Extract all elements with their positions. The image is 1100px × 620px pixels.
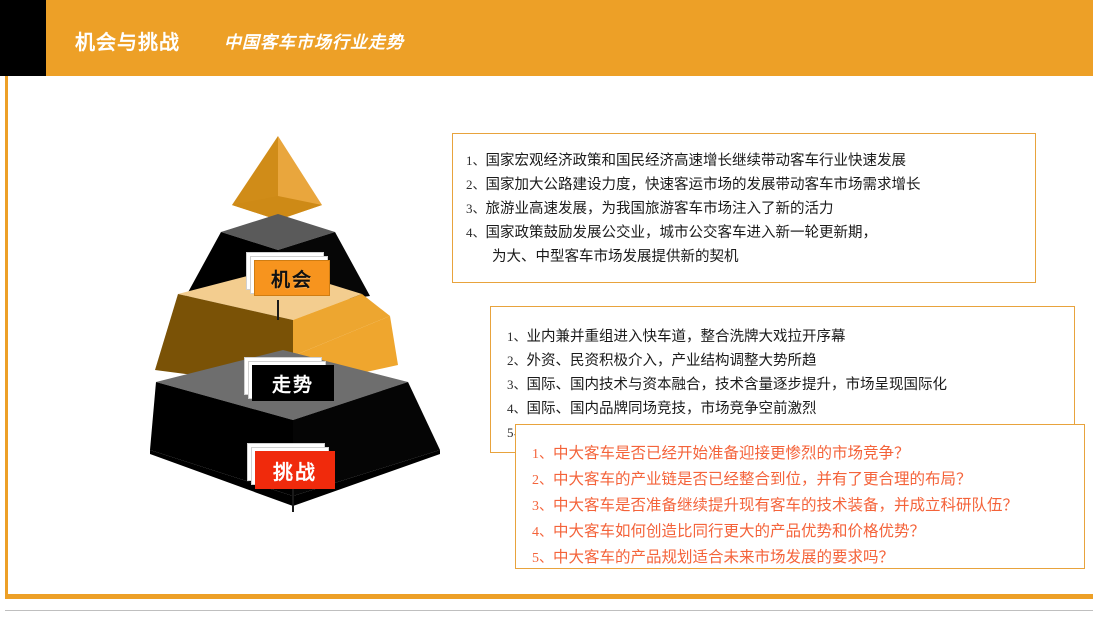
item-number: 3、 — [532, 494, 553, 519]
item-number: 2、 — [532, 468, 553, 493]
bottom-accent-line — [5, 594, 1093, 599]
item-number: 2、 — [507, 349, 527, 373]
challenges-textbox: 1、 中大客车是否已经开始准备迎接更惨烈的市场竞争？ 2、 中大客车的产业链是否… — [515, 424, 1085, 569]
left-accent-line — [5, 76, 8, 597]
pyramid-apex — [232, 136, 322, 220]
challenges-list: 1、 中大客车是否已经开始准备迎接更惨烈的市场竞争？ 2、 中大客车的产业链是否… — [516, 425, 1084, 571]
list-item: 1、 中大客车是否已经开始准备迎接更惨烈的市场竞争？ — [532, 441, 1084, 467]
item-number: 3、 — [466, 197, 486, 221]
item-text: 中大客车如何创造比同行更大的产品优势和价格优势？ — [553, 519, 925, 544]
page-title: 机会与挑战 — [75, 26, 180, 55]
item-number: 1、 — [532, 442, 553, 467]
item-number: 2、 — [466, 173, 486, 197]
item-text: 国家政策鼓励发展公交业，城市公交客车进入新一轮更新期， — [486, 221, 878, 245]
slide-canvas: 机会与挑战 中国客车市场行业走势 — [0, 0, 1100, 620]
item-text: 国际、国内品牌同场竞技，市场竞争空前激烈 — [527, 397, 817, 421]
item-number: 1、 — [507, 325, 527, 349]
list-item-continuation: 为大、中型客车市场发展提供新的契机 — [466, 245, 1035, 269]
list-item: 5、 中大客车的产品规划适合未来市场发展的要求吗？ — [532, 545, 1084, 571]
item-number: 3、 — [507, 373, 527, 397]
pyramid-label-jihui[interactable]: 机会 — [254, 260, 330, 296]
list-item: 2、 外资、民资积极介入，产业结构调整大势所趋 — [507, 349, 1074, 373]
item-text: 中大客车的产业链是否已经整合到位，并有了更合理的布局？ — [553, 467, 972, 492]
list-item: 3、 旅游业高速发展，为我国旅游客车市场注入了新的活力 — [466, 197, 1035, 221]
item-text: 国际、国内技术与资本融合，技术含量逐步提升，市场呈现国际化 — [527, 373, 948, 397]
item-number: 4、 — [532, 520, 553, 545]
item-text: 为大、中型客车市场发展提供新的契机 — [492, 245, 739, 269]
item-number: 1、 — [466, 149, 486, 173]
item-text: 业内兼并重组进入快车道，整合洗牌大戏拉开序幕 — [527, 325, 846, 349]
page-subtitle: 中国客车市场行业走势 — [224, 28, 404, 53]
pyramid-label-tiaozhan[interactable]: 挑战 — [255, 451, 335, 489]
item-text: 中大客车是否已经开始准备迎接更惨烈的市场竞争？ — [553, 441, 910, 466]
header-accent-block — [0, 0, 46, 76]
pyramid-label-zoushi[interactable]: 走势 — [252, 365, 334, 401]
item-number: 5、 — [532, 546, 553, 571]
opportunities-textbox: 1、 国家宏观经济政策和国民经济高速增长继续带动客车行业快速发展 2、 国家加大… — [452, 133, 1036, 283]
item-text: 外资、民资积极介入，产业结构调整大势所趋 — [527, 349, 817, 373]
list-item: 2、 国家加大公路建设力度，快速客运市场的发展带动客车市场需求增长 — [466, 173, 1035, 197]
item-number: 4、 — [507, 397, 527, 421]
list-item: 1、 国家宏观经济政策和国民经济高速增长继续带动客车行业快速发展 — [466, 149, 1035, 173]
list-item: 1、 业内兼并重组进入快车道，整合洗牌大戏拉开序幕 — [507, 325, 1074, 349]
item-text: 中大客车的产品规划适合未来市场发展的要求吗？ — [553, 545, 894, 570]
header-bar — [46, 0, 1093, 76]
list-item: 3、 国际、国内技术与资本融合，技术含量逐步提升，市场呈现国际化 — [507, 373, 1074, 397]
bottom-thin-line — [5, 610, 1093, 611]
list-item: 4、 国际、国内品牌同场竞技，市场竞争空前激烈 — [507, 397, 1074, 421]
list-item: 4、 中大客车如何创造比同行更大的产品优势和价格优势？ — [532, 519, 1084, 545]
item-text: 中大客车是否准备继续提升现有客车的技术装备，并成立科研队伍？ — [553, 493, 1018, 518]
list-item: 2、 中大客车的产业链是否已经整合到位，并有了更合理的布局？ — [532, 467, 1084, 493]
item-number: 4、 — [466, 221, 486, 245]
opportunities-list: 1、 国家宏观经济政策和国民经济高速增长继续带动客车行业快速发展 2、 国家加大… — [453, 134, 1035, 269]
item-text: 国家宏观经济政策和国民经济高速增长继续带动客车行业快速发展 — [486, 149, 907, 173]
item-text: 旅游业高速发展，为我国旅游客车市场注入了新的活力 — [486, 197, 834, 221]
item-text: 国家加大公路建设力度，快速客运市场的发展带动客车市场需求增长 — [486, 173, 921, 197]
list-item: 4、 国家政策鼓励发展公交业，城市公交客车进入新一轮更新期， — [466, 221, 1035, 245]
list-item: 3、 中大客车是否准备继续提升现有客车的技术装备，并成立科研队伍？ — [532, 493, 1084, 519]
